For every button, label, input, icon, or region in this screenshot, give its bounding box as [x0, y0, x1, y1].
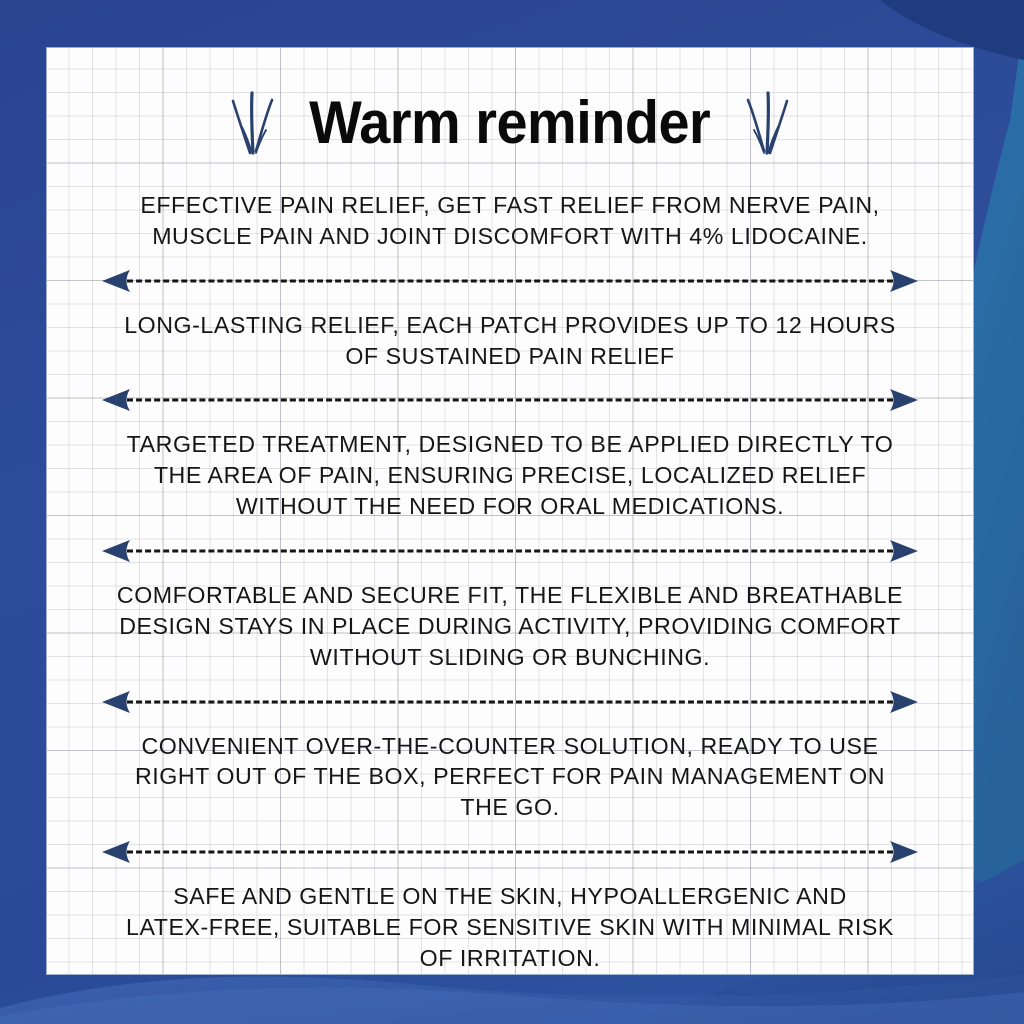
- benefit-line: DESIGN STAYS IN PLACE DURING ACTIVITY, P…: [89, 611, 931, 642]
- benefit-block: SAFE AND GENTLE ON THE SKIN, HYPOALLERGE…: [47, 881, 973, 974]
- arrow-right-icon: [889, 268, 919, 294]
- section-divider: [101, 387, 919, 413]
- benefit-line: SAFE AND GENTLE ON THE SKIN, HYPOALLERGE…: [89, 881, 931, 912]
- section-divider: [101, 839, 919, 865]
- benefit-block: CONVENIENT OVER-THE-COUNTER SOLUTION, RE…: [47, 731, 973, 824]
- benefit-line: TARGETED TREATMENT, DESIGNED TO BE APPLI…: [89, 429, 931, 460]
- benefit-line: LATEX-FREE, SUITABLE FOR SENSITIVE SKIN …: [89, 912, 931, 943]
- benefit-line: OF SUSTAINED PAIN RELIEF: [89, 341, 931, 372]
- wave-bottom-soft-2: [0, 988, 1024, 1024]
- benefit-line: CONVENIENT OVER-THE-COUNTER SOLUTION, RE…: [89, 731, 931, 762]
- content-card: Warm reminder EFFECTIVE PAIN RELIEF, GET…: [47, 48, 973, 974]
- benefit-line: MUSCLE PAIN AND JOINT DISCOMFORT WITH 4%…: [89, 221, 931, 252]
- poster-root: Warm reminder EFFECTIVE PAIN RELIEF, GET…: [0, 0, 1024, 1024]
- divider-dashed-line: [127, 851, 893, 854]
- divider-dashed-line: [127, 279, 893, 282]
- benefit-line: THE AREA OF PAIN, ENSURING PRECISE, LOCA…: [89, 460, 931, 491]
- divider-dashed-line: [127, 399, 893, 402]
- page-title-row: Warm reminder: [47, 80, 973, 164]
- benefit-line: EFFECTIVE PAIN RELIEF, GET FAST RELIEF F…: [89, 190, 931, 221]
- section-divider: [101, 538, 919, 564]
- benefit-block: COMFORTABLE AND SECURE FIT, THE FLEXIBLE…: [47, 580, 973, 673]
- benefit-line: WITHOUT THE NEED FOR ORAL MEDICATIONS.: [89, 491, 931, 522]
- benefit-line: RIGHT OUT OF THE BOX, PERFECT FOR PAIN M…: [89, 761, 931, 792]
- sparkle-flourish-icon: [744, 89, 790, 155]
- benefit-line: LONG-LASTING RELIEF, EACH PATCH PROVIDES…: [89, 310, 931, 341]
- divider-dashed-line: [127, 700, 893, 703]
- benefit-line: THE GO.: [89, 792, 931, 823]
- section-divider: [101, 689, 919, 715]
- benefit-block: EFFECTIVE PAIN RELIEF, GET FAST RELIEF F…: [47, 190, 973, 252]
- arrow-right-icon: [889, 387, 919, 413]
- benefit-block: LONG-LASTING RELIEF, EACH PATCH PROVIDES…: [47, 310, 973, 372]
- arrow-right-icon: [889, 839, 919, 865]
- benefit-line: COMFORTABLE AND SECURE FIT, THE FLEXIBLE…: [89, 580, 931, 611]
- section-divider: [101, 268, 919, 294]
- benefit-line: OF IRRITATION.: [89, 943, 931, 974]
- wave-bottom-soft: [0, 975, 1024, 1024]
- arrow-right-icon: [889, 538, 919, 564]
- arrow-right-icon: [889, 689, 919, 715]
- benefit-block: TARGETED TREATMENT, DESIGNED TO BE APPLI…: [47, 429, 973, 522]
- card-inner: Warm reminder EFFECTIVE PAIN RELIEF, GET…: [47, 80, 973, 974]
- benefit-line: WITHOUT SLIDING OR BUNCHING.: [89, 642, 931, 673]
- page-title: Warm reminder: [309, 88, 710, 157]
- divider-dashed-line: [127, 550, 893, 553]
- sparkle-flourish-icon: [230, 89, 276, 155]
